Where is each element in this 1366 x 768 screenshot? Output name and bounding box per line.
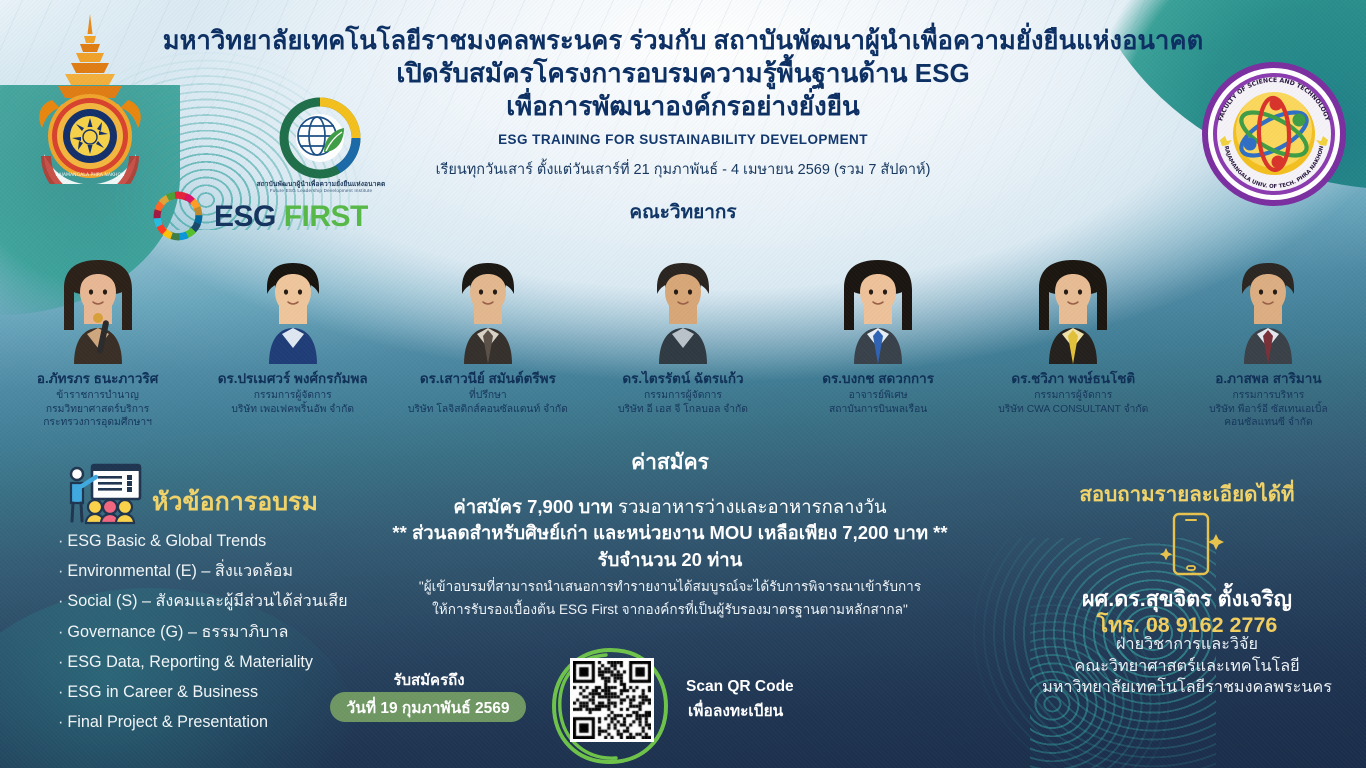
topic-item: ·Social (S) – สังคมและผู้มีส่วนได้ส่วนเส… (58, 593, 358, 609)
contact-heading: สอบถามรายละเอียดได้ที่ (1022, 478, 1352, 511)
speaker-role: ข้าราชการบำนาญกรมวิทยาศาสตร์บริการกระทรว… (0, 389, 195, 430)
fee-discount-line: ** ส่วนลดสำหรับศิษย์เก่า และหน่วยงาน MOU… (332, 520, 1008, 546)
topic-bullet-icon: · (58, 713, 63, 731)
speaker-portrait-photo (629, 252, 737, 364)
fee-quote-line-1: "ผู้เข้าอบรมที่สามารถนำเสนอการทำรายงานได… (332, 577, 1008, 596)
topic-item: ·Governance (G) – ธรรมาภิบาล (58, 624, 358, 640)
speaker-role: อาจารย์พิเศษสถาบันการบินพลเรือน (781, 389, 976, 416)
fee-quote-line-2: ให้การรับรองเบื้องต้น ESG First จากองค์ก… (332, 600, 1008, 619)
header-line-1: มหาวิทยาลัยเทคโนโลยีราชมงคลพระนคร ร่วมกั… (0, 26, 1366, 57)
speaker-portrait-photo (1214, 252, 1322, 364)
fee-details: ค่าสมัคร 7,900 บาท รวมอาหารว่างและอาหารก… (332, 494, 1008, 619)
topic-bullet-icon: · (58, 562, 63, 580)
speaker-name: อ.ภาสพล สาริมาน (1171, 371, 1366, 387)
speaker-portrait-photo (824, 252, 932, 364)
topic-label: ESG Data, Reporting & Materiality (67, 653, 313, 671)
topic-label: ESG in Career & Business (67, 683, 258, 701)
speaker-role: กรรมการผู้จัดการบริษัท อี เอส จี โกลบอล … (585, 389, 780, 416)
topics-list: ·ESG Basic & Global Trends·Environmental… (58, 533, 358, 744)
speaker-name: ดร.ชวิภา พงษ์ธนโชติ (976, 371, 1171, 387)
contact-department: ฝ่ายวิชาการและวิจัย คณะวิทยาศาสตร์และเทค… (1022, 634, 1352, 699)
topic-label: ESG Basic & Global Trends (67, 532, 266, 550)
poster-canvas: RAJAMANGALA PHRA NAKHON FACULTY OF SCIEN… (0, 0, 1366, 768)
speaker-role: กรรมการผู้จัดการบริษัท CWA CONSULTANT จำ… (976, 389, 1171, 416)
topic-item: ·ESG Basic & Global Trends (58, 533, 358, 549)
speakers-section-label: คณะวิทยากร (0, 197, 1366, 227)
fee-line-1: ค่าสมัคร 7,900 บาท รวมอาหารว่างและอาหารก… (332, 494, 1008, 520)
header-line-2: เปิดรับสมัครโครงการอบรมความรู้พื้นฐานด้า… (0, 57, 1366, 90)
speaker-card: ดร.บงกช สดวกการอาจารย์พิเศษสถาบันการบินพ… (781, 252, 976, 430)
topic-label: Social (S) – สังคมและผู้มีส่วนได้ส่วนเสี… (67, 592, 347, 610)
speaker-name: ดร.บงกช สดวกการ (781, 371, 976, 387)
speaker-portrait-photo (44, 252, 152, 364)
topic-bullet-icon: · (58, 653, 63, 671)
speakers-row: อ.ภัทรภร ธนะภาวริศข้าราชการบำนาญกรมวิทยา… (0, 252, 1366, 430)
scan-label-line-2: เพื่อลงทะเบียน (688, 698, 783, 723)
speaker-card: ดร.ปรเมศวร์ พงศ์กรกัมพลกรรมการผู้จัดการบ… (195, 252, 390, 430)
speaker-card: ดร.เสาวนีย์ สมันต์ตรีพรที่ปรึกษาบริษัท โ… (390, 252, 585, 430)
topic-item: ·ESG Data, Reporting & Materiality (58, 654, 358, 670)
speaker-card: ดร.ชวิภา พงษ์ธนโชติกรรมการผู้จัดการบริษั… (976, 252, 1171, 430)
fee-amount: ค่าสมัคร 7,900 บาท (453, 496, 612, 517)
deadline-date-badge: วันที่ 19 กุมภาพันธ์ 2569 (330, 692, 526, 722)
topic-bullet-icon: · (58, 532, 63, 550)
course-dates: เรียนทุกวันเสาร์ ตั้งแต่วันเสาร์ที่ 21 ก… (0, 158, 1366, 181)
speaker-name: อ.ภัทรภร ธนะภาวริศ (0, 371, 195, 387)
fee-includes: รวมอาหารว่างและอาหารกลางวัน (613, 496, 887, 517)
header-line-3: เพื่อการพัฒนาองค์กรอย่างยั่งยืน (0, 90, 1366, 123)
speaker-portrait-photo (434, 252, 542, 364)
mobile-phone-icon (1156, 508, 1226, 586)
fee-capacity-line: รับจำนวน 20 ท่าน (332, 547, 1008, 573)
speaker-portrait-photo (1019, 252, 1127, 364)
topic-bullet-icon: · (58, 592, 63, 610)
topic-bullet-icon: · (58, 623, 63, 641)
header-block: มหาวิทยาลัยเทคโนโลยีราชมงคลพระนคร ร่วมกั… (0, 26, 1366, 227)
topic-label: Governance (G) – ธรรมาภิบาล (67, 623, 288, 641)
english-subtitle: ESG TRAINING FOR SUSTAINABILITY DEVELOPM… (0, 132, 1366, 147)
speaker-name: ดร.ปรเมศวร์ พงศ์กรกัมพล (195, 371, 390, 387)
speaker-card: อ.ภาสพล สาริมานกรรมการบริหารบริษัท พีอาร… (1171, 252, 1366, 430)
speaker-card: ดร.ไตรรัตน์ ฉัตรแก้วกรรมการผู้จัดการบริษ… (585, 252, 780, 430)
speaker-name: ดร.ไตรรัตน์ ฉัตรแก้ว (585, 371, 780, 387)
topics-heading: หัวข้อการอบรม (152, 482, 318, 522)
speaker-role: ที่ปรึกษาบริษัท โลจิสติกส์คอนซัลแตนท์ จำ… (390, 389, 585, 416)
deadline-label: รับสมัครถึง (340, 668, 518, 692)
speaker-card: อ.ภัทรภร ธนะภาวริศข้าราชการบำนาญกรมวิทยา… (0, 252, 195, 430)
speaker-role: กรรมการบริหารบริษัท พีอาร์อี ซัสเทนเอเบิ… (1171, 389, 1366, 430)
topic-label: Final Project & Presentation (67, 713, 268, 731)
registration-qr-code[interactable] (570, 658, 654, 742)
topic-item: ·ESG in Career & Business (58, 684, 358, 700)
scan-label-line-1: Scan QR Code (686, 678, 794, 696)
presentation-training-icon (62, 463, 144, 525)
speaker-name: ดร.เสาวนีย์ สมันต์ตรีพร (390, 371, 585, 387)
topic-item: ·Final Project & Presentation (58, 714, 358, 730)
topic-bullet-icon: · (58, 683, 63, 701)
fee-section-title: ค่าสมัคร (340, 446, 1000, 479)
topic-label: Environmental (E) – สิ่งแวดล้อม (67, 562, 293, 580)
contact-dept-line-2: คณะวิทยาศาสตร์และเทคโนโลยี (1022, 656, 1352, 678)
contact-dept-line-3: มหาวิทยาลัยเทคโนโลยีราชมงคลพระนคร (1022, 677, 1352, 699)
contact-dept-line-1: ฝ่ายวิชาการและวิจัย (1022, 634, 1352, 656)
speaker-role: กรรมการผู้จัดการบริษัท เพอเฟคพริ้นอัพ จำ… (195, 389, 390, 416)
speaker-portrait-photo (239, 252, 347, 364)
topic-item: ·Environmental (E) – สิ่งแวดล้อม (58, 563, 358, 579)
